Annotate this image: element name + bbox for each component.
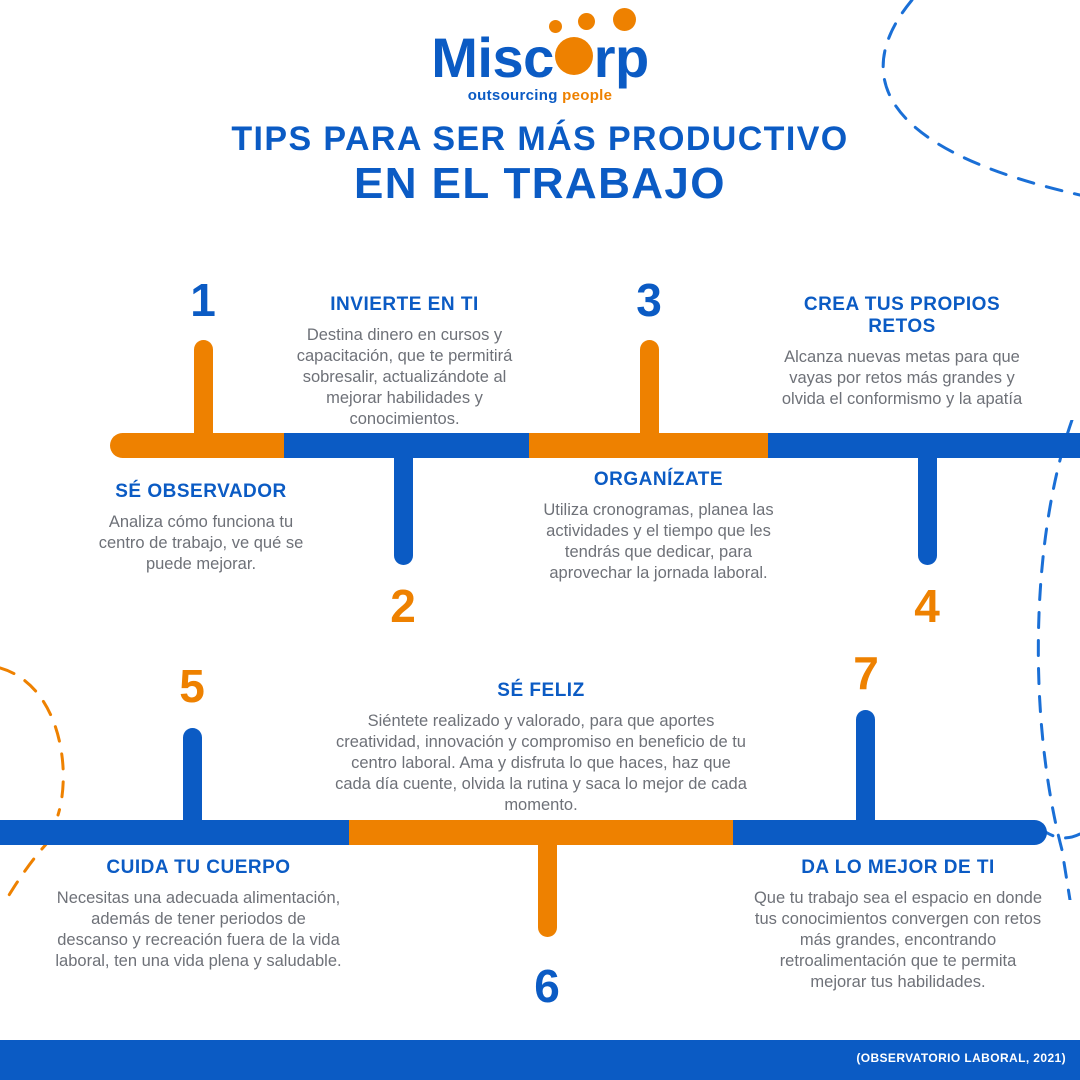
tip-body-1: Destina dinero en cursos y capacitación,… bbox=[282, 325, 527, 431]
brand-tagline: outsourcing people bbox=[468, 87, 613, 104]
tip-body-4: Utiliza cronogramas, planea las activida… bbox=[527, 500, 790, 584]
brand-o-circle-icon bbox=[555, 37, 593, 75]
stem-tip-6 bbox=[538, 842, 557, 937]
brand-name-post: rp bbox=[594, 30, 649, 86]
tip-title-1: INVIERTE EN TI bbox=[282, 294, 527, 316]
tip-title-7: DA LO MEJOR DE TI bbox=[752, 857, 1044, 879]
page-title-line1: TIPS PARA SER MÁS PRODUCTIVO bbox=[0, 120, 1080, 159]
tip-title-5: SÉ FELIZ bbox=[335, 680, 747, 702]
brand-logo: Misc rp outsourcing people bbox=[0, 30, 1080, 120]
stem-tip-7 bbox=[856, 710, 875, 823]
tip-number-5: 5 bbox=[162, 663, 222, 709]
bar-segment-3 bbox=[529, 433, 768, 458]
stem-tip-1 bbox=[194, 340, 213, 435]
tip-title-6: CUIDA TU CUERPO bbox=[55, 857, 342, 879]
bar-segment-7 bbox=[733, 820, 1047, 845]
tip-body-7: Que tu trabajo sea el espacio en donde t… bbox=[752, 888, 1044, 994]
tip-number-1: 1 bbox=[173, 277, 233, 323]
tip-card-1: INVIERTE EN TI Destina dinero en cursos … bbox=[282, 294, 527, 431]
footer-bar: (OBSERVATORIO LABORAL, 2021) bbox=[0, 1040, 1080, 1080]
tip-card-3: CREA TUS PROPIOS RETOS Alcanza nuevas me… bbox=[772, 294, 1032, 410]
page-title-line2: EN EL TRABAJO bbox=[0, 159, 1080, 208]
tip-number-3: 3 bbox=[619, 277, 679, 323]
tip-card-6: CUIDA TU CUERPO Necesitas una adecuada a… bbox=[55, 857, 342, 972]
brand-tagline-part2: people bbox=[562, 87, 612, 104]
tip-number-4: 4 bbox=[897, 583, 957, 629]
tip-number-7: 7 bbox=[836, 650, 896, 696]
tip-title-3: CREA TUS PROPIOS RETOS bbox=[772, 294, 1032, 338]
tip-card-2: SÉ OBSERVADOR Analiza cómo funciona tu c… bbox=[97, 481, 305, 575]
brand-wordmark: Misc rp bbox=[431, 30, 649, 86]
stem-tip-4 bbox=[918, 455, 937, 565]
tip-card-5: SÉ FELIZ Siéntete realizado y valorado, … bbox=[335, 680, 747, 817]
brand-dots-icon bbox=[549, 8, 669, 32]
brand-tagline-part1: outsourcing bbox=[468, 87, 562, 104]
tip-body-6: Necesitas una adecuada alimentación, ade… bbox=[55, 888, 342, 972]
tip-number-2: 2 bbox=[373, 583, 433, 629]
bar-segment-5 bbox=[0, 820, 349, 845]
stem-tip-3 bbox=[640, 340, 659, 435]
tip-title-2: SÉ OBSERVADOR bbox=[97, 481, 305, 503]
page-title: TIPS PARA SER MÁS PRODUCTIVO EN EL TRABA… bbox=[0, 120, 1080, 208]
stem-tip-5 bbox=[183, 728, 202, 823]
brand-name-pre: Misc bbox=[431, 30, 554, 86]
tip-card-7: DA LO MEJOR DE TI Que tu trabajo sea el … bbox=[752, 857, 1044, 994]
tip-body-2: Analiza cómo funciona tu centro de traba… bbox=[97, 512, 305, 575]
timeline-bar-bottom bbox=[0, 820, 1047, 845]
tip-body-3: Alcanza nuevas metas para que vayas por … bbox=[772, 347, 1032, 410]
bar-segment-1 bbox=[110, 433, 284, 458]
tip-card-4: ORGANÍZATE Utiliza cronogramas, planea l… bbox=[527, 469, 790, 584]
infographic-page: Misc rp outsourcing people TIPS PARA SER… bbox=[0, 0, 1080, 1080]
tip-body-5: Siéntete realizado y valorado, para que … bbox=[335, 711, 747, 817]
tip-number-6: 6 bbox=[517, 963, 577, 1009]
footer-source-citation: (OBSERVATORIO LABORAL, 2021) bbox=[856, 1051, 1066, 1065]
stem-tip-2 bbox=[394, 455, 413, 565]
tip-title-4: ORGANÍZATE bbox=[527, 469, 790, 491]
